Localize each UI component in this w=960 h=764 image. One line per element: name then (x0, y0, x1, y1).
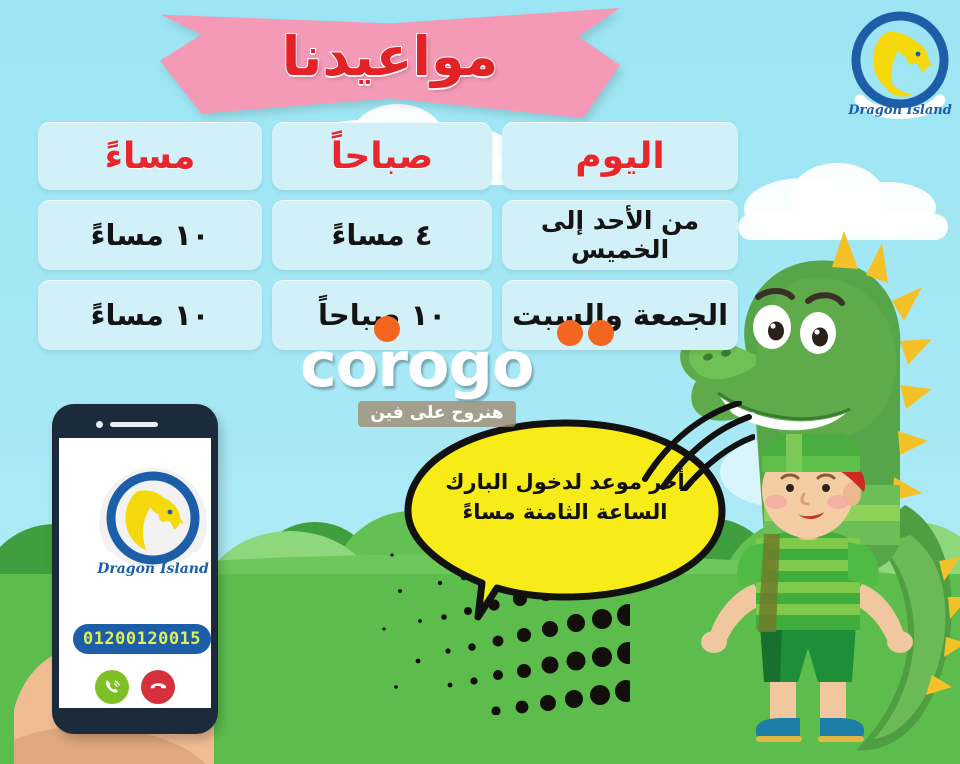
phone-handset-icon (102, 677, 122, 697)
cell-evening-value: ١٠ مساءً (91, 218, 210, 252)
header-evening-label: مساءً (105, 136, 196, 177)
ribbon-shape: مواعيدنا (160, 8, 620, 118)
phone-speaker-icon (110, 422, 158, 427)
phone-camera-icon (96, 421, 103, 428)
phone-hangup-icon[interactable] (141, 670, 175, 704)
phone-call-icon[interactable] (95, 670, 129, 704)
header-cell-evening: مساءً (38, 122, 262, 190)
header-morning-label: صباحاً (331, 136, 433, 177)
cell-day: الجمعة والسبت (502, 280, 738, 350)
phone-number-display: 01200120015 (73, 624, 211, 654)
notice-line-2: الساعة الثامنة مساءً (442, 497, 688, 527)
header-cell-morning: صباحاً (272, 122, 492, 190)
speech-bubble: أخر موعد لدخول البارك الساعة الثامنة مسا… (400, 415, 730, 625)
logo-wordmark: Dragon Island (847, 103, 952, 118)
cell-evening-value: ١٠ مساءً (91, 298, 210, 332)
hangup-handset-icon (148, 677, 168, 697)
table-header-row: اليوم صباحاً مساءً (38, 122, 738, 190)
table-row: من الأحد إلى الخميس ٤ مساءً ١٠ مساءً (38, 200, 738, 270)
notice-line-1: أخر موعد لدخول البارك (442, 467, 688, 497)
cell-morning-value: ٤ مساءً (332, 218, 433, 252)
cell-evening: ١٠ مساءً (38, 280, 262, 350)
header-cell-day: اليوم (502, 122, 738, 190)
cell-day-value: من الأحد إلى الخميس (502, 206, 738, 264)
page-title: مواعيدنا (282, 30, 498, 84)
table-row: الجمعة والسبت ١٠ صباحاً ١٠ مساءً (38, 280, 738, 350)
title-ribbon: مواعيدنا (160, 8, 620, 118)
poster-canvas: اليوم صباحاً مساءً من الأحد إلى الخميس ٤… (0, 0, 960, 764)
cell-evening: ١٠ مساءً (38, 200, 262, 270)
schedule-table: اليوم صباحاً مساءً من الأحد إلى الخميس ٤… (38, 122, 738, 350)
cell-day: من الأحد إلى الخميس (502, 200, 738, 270)
phone-mockup: Dragon Island 01200120015 (52, 404, 218, 734)
dragon-island-logo: Dragon Island (846, 8, 954, 126)
phone-logo-wordmark: Dragon Island (96, 561, 209, 577)
phone-screen: Dragon Island 01200120015 (59, 438, 211, 708)
cell-morning-value: ١٠ صباحاً (318, 298, 446, 332)
cell-day-value: الجمعة والسبت (512, 298, 728, 332)
notice-text: أخر موعد لدخول البارك الساعة الثامنة مسا… (400, 467, 730, 528)
header-day-label: اليوم (575, 136, 665, 177)
dragon-island-logo-phone: Dragon Island (94, 466, 212, 588)
cell-morning: ١٠ صباحاً (272, 280, 492, 350)
cell-morning: ٤ مساءً (272, 200, 492, 270)
